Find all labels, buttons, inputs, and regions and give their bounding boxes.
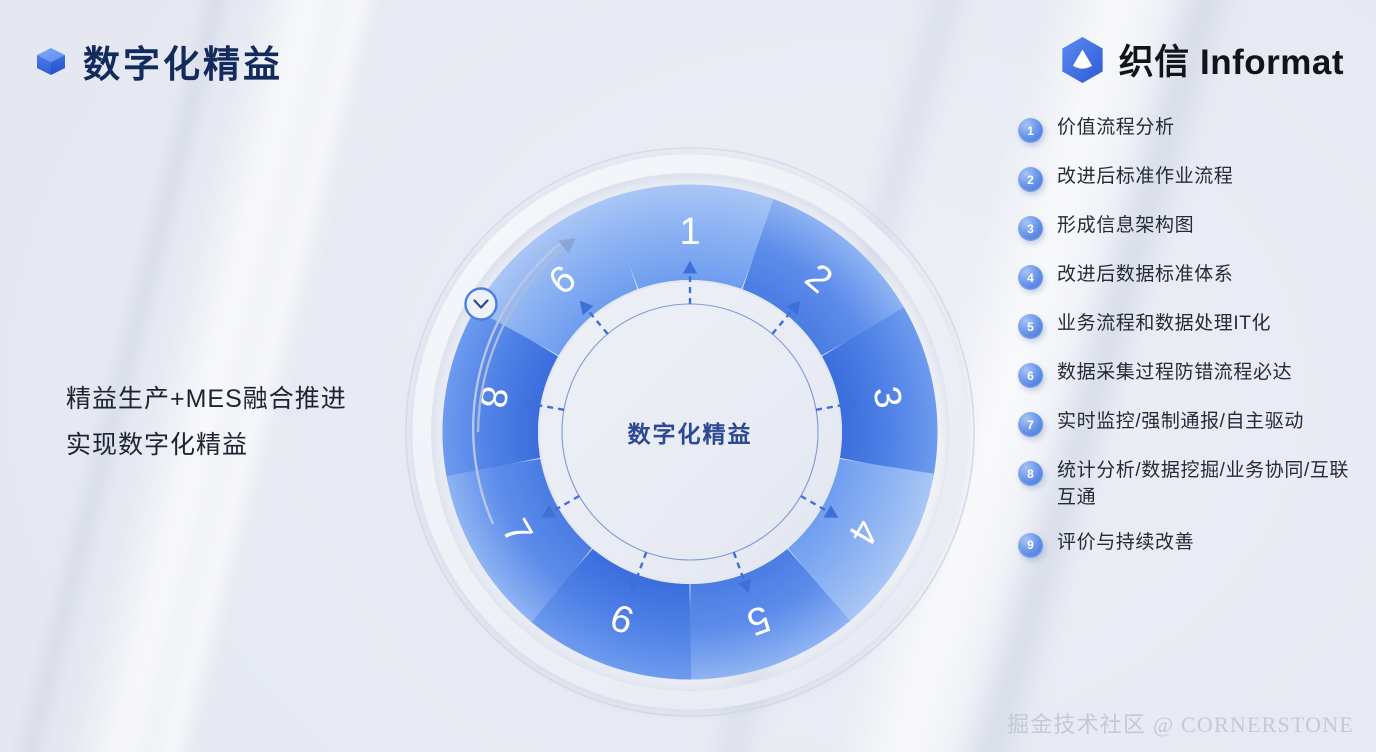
step-label: 实时监控/强制通报/自主驱动 <box>1057 409 1304 436</box>
left-caption-line-1: 精益生产+MES融合推进 <box>66 376 406 422</box>
wheel-chart: 1 2 3 4 5 6 7 8 9 <box>390 132 990 732</box>
step-label: 形成信息架构图 <box>1057 213 1194 240</box>
brand-logo: 织信 Informat <box>1060 34 1344 85</box>
step-badge: 7 <box>1018 412 1043 437</box>
list-item[interactable]: 6 数据采集过程防错流程必达 <box>1018 360 1368 388</box>
step-label: 评价与持续改善 <box>1057 530 1194 557</box>
step-label: 价值流程分析 <box>1057 115 1175 142</box>
page-title-text: 数字化精益 <box>83 34 283 88</box>
list-item[interactable]: 7 实时监控/强制通报/自主驱动 <box>1018 409 1368 437</box>
list-item[interactable]: 1 价值流程分析 <box>1018 115 1368 143</box>
step-badge: 4 <box>1018 265 1043 290</box>
step-label: 业务流程和数据处理IT化 <box>1057 311 1271 338</box>
left-caption-line-2: 实现数字化精益 <box>66 422 406 468</box>
list-item[interactable]: 4 改进后数据标准体系 <box>1018 262 1368 290</box>
chevron-down-circle-icon[interactable] <box>466 289 497 320</box>
digital-lean-wheel: 1 2 3 4 5 6 7 8 9 数字化精益 <box>390 132 990 732</box>
step-label: 数据采集过程防错流程必达 <box>1057 360 1292 387</box>
step-label: 改进后数据标准体系 <box>1057 262 1233 289</box>
cube-icon <box>34 44 68 78</box>
step-badge: 5 <box>1018 314 1043 339</box>
step-badge: 2 <box>1018 167 1043 192</box>
list-item[interactable]: 8 统计分析/数据挖掘/业务协同/互联互通 <box>1018 458 1368 512</box>
step-badge: 3 <box>1018 216 1043 241</box>
step-badge: 1 <box>1018 118 1043 143</box>
wheel-number-1: 1 <box>679 211 700 253</box>
step-badge: 6 <box>1018 363 1043 388</box>
hexagon-logo-icon <box>1060 36 1105 84</box>
step-label: 统计分析/数据挖掘/业务协同/互联互通 <box>1057 458 1368 512</box>
list-item[interactable]: 5 业务流程和数据处理IT化 <box>1018 311 1368 339</box>
left-caption: 精益生产+MES融合推进 实现数字化精益 <box>66 376 406 469</box>
step-badge: 9 <box>1018 533 1043 558</box>
list-item[interactable]: 9 评价与持续改善 <box>1018 530 1368 558</box>
process-step-list: 1 价值流程分析 2 改进后标准作业流程 3 形成信息架构图 4 改进后数据标准… <box>1018 115 1368 579</box>
list-item[interactable]: 3 形成信息架构图 <box>1018 213 1368 241</box>
watermark: 掘金技术社区 @ CORNERSTONE <box>1007 707 1354 739</box>
list-item[interactable]: 2 改进后标准作业流程 <box>1018 164 1368 192</box>
page-title: 数字化精益 <box>34 34 283 88</box>
brand-name: 织信 Informat <box>1119 34 1344 85</box>
step-badge: 8 <box>1018 461 1043 486</box>
step-label: 改进后标准作业流程 <box>1057 164 1233 191</box>
